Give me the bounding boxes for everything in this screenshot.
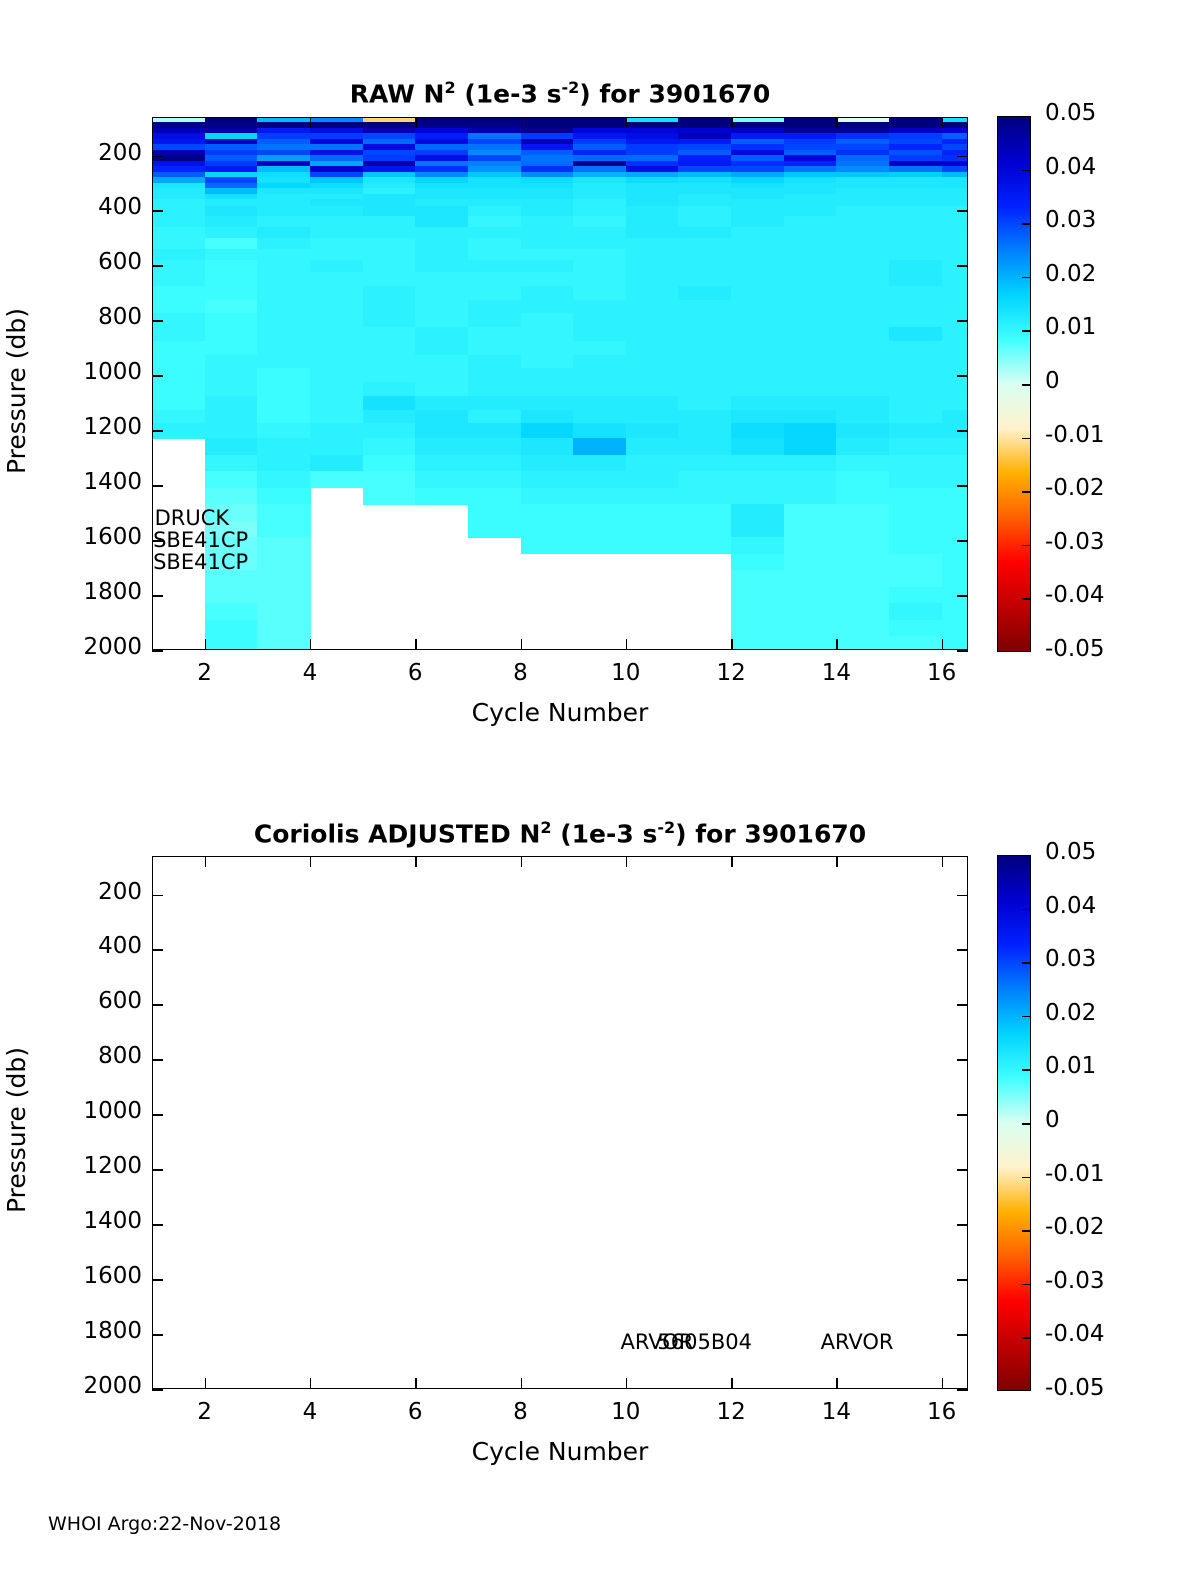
heatmap-cell	[836, 327, 889, 341]
heatmap-cell	[205, 313, 258, 327]
x-axis-tick-label: 16	[902, 660, 982, 686]
heatmap-cell	[626, 504, 679, 521]
heatmap-cell	[731, 327, 784, 341]
heatmap-cell	[731, 216, 784, 228]
heatmap-cell	[153, 272, 205, 286]
heatmap-cell	[205, 382, 258, 396]
y-axis-tick	[957, 430, 968, 432]
heatmap-cell	[205, 620, 258, 637]
heatmap-cell	[573, 410, 626, 424]
y-axis-tick-label: 2000	[20, 634, 142, 660]
heatmap-cell	[942, 410, 967, 424]
heatmap-cell	[889, 286, 942, 300]
heatmap-cell	[626, 286, 679, 300]
heatmap-cell	[257, 423, 310, 439]
heatmap-cell	[468, 488, 521, 505]
heatmap-cell	[205, 396, 258, 410]
heatmap-cell	[626, 238, 679, 250]
colorbar-tick	[1022, 330, 1031, 332]
heatmap-cell	[468, 300, 521, 314]
heatmap-cell	[784, 504, 837, 521]
heatmap-cell	[784, 313, 837, 327]
y-axis-tick	[152, 485, 163, 487]
heatmap-cell	[310, 410, 363, 424]
heatmap-cell	[942, 327, 967, 341]
heatmap-cell	[836, 216, 889, 228]
title-text-units: (1e-3 s	[552, 819, 658, 848]
x-axis-tick-label: 6	[375, 1399, 455, 1425]
y-axis-tick-label: 1600	[20, 1263, 142, 1289]
heatmap-cell	[731, 249, 784, 261]
heatmap-cell	[468, 355, 521, 369]
heatmap-cell	[257, 410, 310, 424]
title-superscript-2: 2	[444, 78, 455, 97]
heatmap-cell	[678, 355, 731, 369]
heatmap-cell	[363, 300, 416, 314]
heatmap-cell	[205, 410, 258, 424]
x-axis-tick	[836, 856, 838, 867]
heatmap-cell	[153, 382, 205, 396]
heatmap-cell	[205, 260, 258, 273]
y-axis-tick-label: 400	[20, 194, 142, 220]
heatmap-cell	[836, 410, 889, 424]
heatmap-cell	[573, 382, 626, 396]
x-axis-tick-label: 12	[691, 660, 771, 686]
colorbar-tick-label: -0.01	[1045, 422, 1105, 448]
heatmap-cell	[573, 313, 626, 327]
y-axis-tick	[152, 1279, 163, 1281]
heatmap-cell	[784, 537, 837, 554]
x-axis-tick	[205, 856, 207, 867]
y-axis-tick-label: 2000	[20, 1373, 142, 1399]
x-axis-tick	[731, 117, 733, 128]
heatmap-cell	[257, 368, 310, 382]
heatmap-cell	[626, 272, 679, 286]
heatmap-cell	[784, 382, 837, 396]
colorbar-tick-label: 0.02	[1045, 1000, 1096, 1026]
y-axis-tick	[957, 1114, 968, 1116]
plot-title: RAW N2 (1e-3 s-2) for 3901670	[152, 78, 968, 108]
x-axis-tick	[205, 1378, 207, 1389]
heatmap-cell	[205, 587, 258, 604]
heatmap-cell	[363, 410, 416, 424]
heatmap-cell	[257, 238, 310, 250]
heatmap-cell	[678, 238, 731, 250]
colorbar-tick-label: 0	[1045, 368, 1060, 394]
heatmap-cell	[836, 272, 889, 286]
x-axis-tick-label: 8	[481, 660, 561, 686]
y-axis-tick-label: 1200	[20, 414, 142, 440]
heatmap-cell	[836, 587, 889, 604]
heatmap-cell	[836, 471, 889, 488]
heatmap-cell	[205, 249, 258, 261]
heatmap-cell	[731, 554, 784, 571]
heatmap-cell	[731, 488, 784, 505]
x-axis-tick-label: 2	[165, 660, 245, 686]
colorbar-tick-label: 0.05	[1045, 839, 1096, 865]
heatmap-cell	[468, 327, 521, 341]
y-axis-tick	[957, 1224, 968, 1226]
heatmap-cell	[363, 382, 416, 396]
x-axis-tick	[415, 117, 417, 128]
heatmap-cell	[310, 272, 363, 286]
title-superscript-2: 2	[540, 818, 551, 837]
heatmap-cell	[573, 249, 626, 261]
heatmap-cell	[205, 341, 258, 355]
heatmap-cell	[889, 238, 942, 250]
heatmap-cell	[836, 620, 889, 637]
x-axis-tick	[310, 1378, 312, 1389]
heatmap-cell	[942, 227, 967, 239]
heatmap-cell	[942, 341, 967, 355]
plot-annotation-label: SBE41CP	[153, 528, 248, 552]
heatmap-cell	[521, 313, 574, 327]
heatmap-cell	[573, 300, 626, 314]
heatmap-cell	[257, 300, 310, 314]
footer-credit: WHOI Argo:22-Nov-2018	[48, 1513, 281, 1535]
plot-title: Coriolis ADJUSTED N2 (1e-3 s-2) for 3901…	[152, 818, 968, 848]
heatmap-cell	[468, 272, 521, 286]
colorbar-tick-label: 0.02	[1045, 261, 1096, 287]
heatmap-cell	[257, 341, 310, 355]
y-axis-tick	[957, 540, 968, 542]
heatmap-cell	[626, 488, 679, 505]
heatmap-cell	[731, 300, 784, 314]
title-superscript-neg2: -2	[657, 818, 675, 837]
heatmap-cell	[784, 396, 837, 410]
heatmap-cell	[836, 438, 889, 455]
title-superscript-neg2: -2	[561, 78, 579, 97]
heatmap-cell	[836, 368, 889, 382]
heatmap-cell	[678, 313, 731, 327]
heatmap-cell	[784, 216, 837, 228]
y-axis-tick	[957, 265, 968, 267]
heatmap-cell	[521, 238, 574, 250]
heatmap-cell	[573, 272, 626, 286]
heatmap-cell	[626, 260, 679, 273]
heatmap-cell	[257, 313, 310, 327]
heatmap-cell	[153, 286, 205, 300]
x-axis-tick	[521, 856, 523, 867]
x-axis-tick	[205, 639, 207, 650]
heatmap-cell	[415, 341, 468, 355]
heatmap-cell	[678, 272, 731, 286]
title-text-units: (1e-3 s	[456, 79, 562, 108]
y-axis-tick	[152, 156, 163, 158]
heatmap-cell	[363, 368, 416, 382]
heatmap-cell	[731, 396, 784, 410]
heatmap-cell	[889, 438, 942, 455]
heatmap-cell	[521, 341, 574, 355]
heatmap-cell	[889, 554, 942, 571]
heatmap-cell	[784, 488, 837, 505]
heatmap-cell	[784, 272, 837, 286]
heatmap-cell	[310, 313, 363, 327]
colorbar-tick-label: 0	[1045, 1107, 1060, 1133]
heatmap-cell	[784, 570, 837, 587]
plot-annotation-label: 5605B04	[657, 1330, 752, 1354]
heatmap-cell	[836, 455, 889, 472]
heatmap-cell	[626, 327, 679, 341]
heatmap-cell	[889, 341, 942, 355]
heatmap-cell	[836, 249, 889, 261]
colorbar-tick-label: -0.02	[1045, 1214, 1105, 1240]
colorbar-tick	[1022, 909, 1031, 911]
heatmap-cell	[889, 227, 942, 239]
colorbar-tick	[1022, 277, 1031, 279]
title-text-float: ) for 3901670	[579, 79, 770, 108]
heatmap-cell	[363, 423, 416, 439]
heatmap-cell	[205, 423, 258, 439]
heatmap-cell	[889, 355, 942, 369]
x-axis-tick	[942, 117, 944, 128]
heatmap-cell	[415, 355, 468, 369]
heatmap-cell	[626, 471, 679, 488]
heatmap-cell	[257, 471, 310, 488]
heatmap-cell	[310, 227, 363, 239]
heatmap-cell	[310, 327, 363, 341]
heatmap-cell	[153, 341, 205, 355]
plot-annotation-label: ARVOR	[821, 1330, 894, 1354]
y-axis-tick	[152, 949, 163, 951]
heatmap-cell	[678, 438, 731, 455]
heatmap-cell	[942, 504, 967, 521]
heatmap-cell	[468, 238, 521, 250]
heatmap-cell	[678, 260, 731, 273]
x-axis-tick	[310, 856, 312, 867]
y-axis-tick-label: 600	[20, 988, 142, 1014]
colorbar-tick-label: 0.05	[1045, 100, 1096, 126]
heatmap-cell	[468, 341, 521, 355]
heatmap-cell	[573, 438, 626, 455]
heatmap-cell	[415, 260, 468, 273]
y-axis-tick	[152, 595, 163, 597]
heatmap-cell	[257, 554, 310, 571]
heatmap-cell	[889, 382, 942, 396]
heatmap-cell	[363, 438, 416, 455]
heatmap-cell	[257, 216, 310, 228]
heatmap-cell	[784, 260, 837, 273]
x-axis-tick	[942, 1378, 944, 1389]
heatmap-cell	[415, 313, 468, 327]
heatmap-cell	[836, 521, 889, 538]
heatmap-cell	[678, 327, 731, 341]
x-axis-tick-label: 6	[375, 660, 455, 686]
heatmap-cell	[942, 355, 967, 369]
heatmap-cell	[468, 249, 521, 261]
heatmap-cell	[784, 286, 837, 300]
heatmap-cell	[521, 521, 574, 538]
x-axis-tick	[836, 639, 838, 650]
heatmap-cell	[468, 521, 521, 538]
heatmap-cell	[942, 603, 967, 620]
heatmap-cell	[942, 238, 967, 250]
heatmap-cell	[889, 260, 942, 273]
heatmap-cell	[573, 327, 626, 341]
x-axis-tick	[521, 1378, 523, 1389]
heatmap-cell	[836, 341, 889, 355]
heatmap-cell	[468, 382, 521, 396]
x-axis-tick	[836, 117, 838, 128]
title-text-main: Coriolis ADJUSTED N	[254, 819, 541, 848]
heatmap-cell	[626, 537, 679, 554]
heatmap-cell	[205, 438, 258, 455]
heatmap-cell	[521, 471, 574, 488]
x-axis-tick	[836, 1378, 838, 1389]
heatmap-cell	[521, 272, 574, 286]
heatmap-cell	[678, 537, 731, 554]
heatmap-cell	[731, 313, 784, 327]
heatmap-cell	[784, 636, 837, 649]
heatmap-cell	[573, 238, 626, 250]
x-axis-tick	[626, 639, 628, 650]
heatmap-cell	[205, 286, 258, 300]
heatmap-cell	[678, 396, 731, 410]
heatmap-cell	[415, 396, 468, 410]
heatmap-cell	[363, 355, 416, 369]
y-axis-tick-label: 200	[20, 879, 142, 905]
heatmap-cell	[731, 227, 784, 239]
heatmap-cell	[678, 300, 731, 314]
heatmap-cell	[310, 382, 363, 396]
heatmap-cell	[784, 327, 837, 341]
heatmap-cell	[573, 286, 626, 300]
y-axis-tick	[957, 1169, 968, 1171]
heatmap-cell	[415, 488, 468, 505]
x-axis-tick-label: 12	[691, 1399, 771, 1425]
colorbar-tick-label: 0.01	[1045, 1053, 1096, 1079]
colorbar-tick	[1022, 962, 1031, 964]
heatmap-cell	[942, 521, 967, 538]
plot-annotation-label: SBE41CP	[153, 550, 248, 574]
heatmap-cell	[731, 587, 784, 604]
heatmap-cell	[889, 368, 942, 382]
heatmap-cell	[678, 227, 731, 239]
heatmap-cell	[836, 570, 889, 587]
heatmap-cell	[626, 313, 679, 327]
colorbar-tick	[1022, 1337, 1031, 1339]
heatmap-cell	[889, 471, 942, 488]
heatmap-cell	[889, 300, 942, 314]
x-axis-tick	[731, 639, 733, 650]
heatmap-cell	[153, 410, 205, 424]
heatmap-cell	[521, 260, 574, 273]
heatmap-cell	[573, 471, 626, 488]
heatmap-cell	[731, 423, 784, 439]
heatmap-cell	[205, 471, 258, 488]
heatmap-cell	[363, 396, 416, 410]
heatmap-cell	[836, 227, 889, 239]
heatmap-cell	[363, 260, 416, 273]
heatmap-cell	[415, 272, 468, 286]
x-axis-tick	[415, 856, 417, 867]
heatmap-cell	[626, 410, 679, 424]
y-axis-tick-label: 800	[20, 304, 142, 330]
heatmap-cell	[521, 410, 574, 424]
x-axis-tick	[415, 1378, 417, 1389]
colorbar-tick-label: -0.05	[1045, 636, 1105, 662]
heatmap-cell	[205, 216, 258, 228]
heatmap-cell	[257, 286, 310, 300]
heatmap-cell	[205, 227, 258, 239]
heatmap-cell	[521, 438, 574, 455]
heatmap-cell	[678, 521, 731, 538]
x-axis-tick-label: 4	[270, 660, 350, 686]
heatmap-cell	[731, 537, 784, 554]
y-axis-tick-label: 600	[20, 249, 142, 275]
colorbar-tick	[1022, 170, 1031, 172]
heatmap-cell	[942, 438, 967, 455]
heatmap-cell	[942, 249, 967, 261]
y-axis-tick	[957, 949, 968, 951]
x-axis-tick-label: 14	[796, 1399, 876, 1425]
heatmap-cell	[731, 636, 784, 649]
x-axis-tick	[626, 117, 628, 128]
heatmap-cell	[415, 300, 468, 314]
heatmap-cell	[415, 286, 468, 300]
heatmap-cell	[889, 327, 942, 341]
heatmap-cell	[310, 249, 363, 261]
y-axis-tick-label: 1400	[20, 469, 142, 495]
heatmap-cell	[626, 227, 679, 239]
heatmap-cell	[942, 570, 967, 587]
heatmap-cell	[626, 216, 679, 228]
heatmap-cell	[573, 455, 626, 472]
heatmap-cell	[573, 355, 626, 369]
heatmap-cell	[889, 504, 942, 521]
heatmap-cell	[942, 488, 967, 505]
heatmap-cell	[626, 455, 679, 472]
heatmap-cell	[257, 636, 310, 649]
heatmap-cell	[468, 260, 521, 273]
heatmap-cell	[784, 410, 837, 424]
y-axis-tick	[152, 430, 163, 432]
y-axis-title: Pressure (db)	[2, 1047, 31, 1213]
heatmap-cell	[784, 227, 837, 239]
heatmap-cell	[942, 554, 967, 571]
heatmap-cell	[784, 249, 837, 261]
heatmap-cell	[153, 300, 205, 314]
colorbar-tick	[1022, 1230, 1031, 1232]
heatmap-cell	[678, 216, 731, 228]
heatmap-cell	[310, 471, 363, 488]
heatmap-cell	[153, 227, 205, 239]
heatmap-cell	[310, 438, 363, 455]
heatmap-cell	[626, 249, 679, 261]
heatmap-cell	[889, 488, 942, 505]
heatmap-cell	[678, 368, 731, 382]
colorbar-tick	[1022, 491, 1031, 493]
heatmap-cell	[310, 455, 363, 472]
heatmap-cell	[731, 272, 784, 286]
heatmap-cell	[468, 313, 521, 327]
heatmap-cell	[678, 423, 731, 439]
heatmap-cell	[836, 554, 889, 571]
y-axis-tick	[152, 1059, 163, 1061]
heatmap-cell	[363, 327, 416, 341]
heatmap-cell	[257, 227, 310, 239]
heatmap-cell	[257, 603, 310, 620]
heatmap-cell	[205, 327, 258, 341]
heatmap-cell	[731, 410, 784, 424]
heatmap-cell	[678, 249, 731, 261]
heatmap-cell	[415, 216, 468, 228]
x-axis-tick-label: 10	[586, 1399, 666, 1425]
heatmap-cell	[573, 396, 626, 410]
heatmap-cell	[363, 286, 416, 300]
y-axis-tick	[957, 1389, 968, 1391]
y-axis-title: Pressure (db)	[2, 308, 31, 474]
